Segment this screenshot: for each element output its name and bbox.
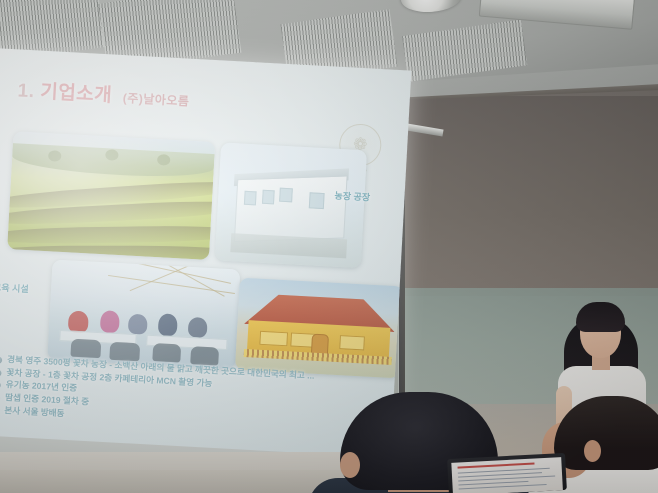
photo-label-education: 교육 시설 bbox=[0, 280, 29, 295]
seated-person bbox=[100, 310, 120, 333]
bullet-dot-icon bbox=[0, 382, 1, 389]
laptop-screen-heading-line bbox=[458, 463, 535, 469]
ceiling-vent bbox=[402, 20, 527, 82]
chair-shape bbox=[109, 342, 140, 362]
presentation-photo-scene: 1. 기업소개 (주)날아오름 ❁ FLY UP bbox=[0, 0, 658, 493]
window-shape bbox=[340, 336, 366, 351]
seated-person bbox=[128, 314, 148, 335]
window-shape bbox=[259, 330, 288, 346]
presenter-hair-top bbox=[576, 302, 625, 332]
window-shape bbox=[279, 188, 292, 202]
audience-hair bbox=[554, 396, 658, 470]
wall-upper-panel bbox=[402, 96, 658, 296]
slide-photo-factory-building bbox=[215, 142, 367, 268]
ceiling-downlight-icon bbox=[400, 0, 462, 14]
window-shape bbox=[308, 192, 324, 209]
slide-photo-yellow-house bbox=[235, 278, 404, 379]
slide-title: 1. 기업소개 (주)날아오름 bbox=[17, 75, 190, 111]
slide-photo-greenhouse-education bbox=[47, 259, 240, 369]
audience-ear bbox=[584, 440, 601, 462]
laptop[interactable] bbox=[447, 453, 567, 493]
field-ridge bbox=[7, 245, 215, 260]
photo-label-farm-factory: 농장 공장 bbox=[334, 189, 370, 204]
slide-title-sub: (주)날아오름 bbox=[122, 91, 189, 109]
bullet-dot-icon bbox=[0, 357, 2, 364]
slide-title-main: 기업소개 bbox=[40, 82, 113, 107]
audience-ear bbox=[340, 452, 360, 478]
bullet-dot-icon bbox=[0, 369, 2, 376]
window-shape bbox=[262, 190, 275, 204]
chair-shape bbox=[70, 339, 101, 359]
building-body bbox=[233, 175, 347, 242]
chair-shape bbox=[153, 343, 182, 362]
seated-person bbox=[158, 313, 178, 336]
slide-title-number: 1. bbox=[17, 80, 35, 102]
hill-shape bbox=[11, 143, 214, 180]
bullet-text: 본사 서울 방배동 bbox=[4, 406, 65, 419]
field-ridge bbox=[7, 224, 215, 244]
seated-person bbox=[188, 317, 208, 338]
laptop-screen[interactable] bbox=[451, 457, 563, 493]
slide-photo-chrysanthemum-field bbox=[7, 131, 215, 260]
chair-shape bbox=[190, 346, 219, 365]
window-shape bbox=[244, 191, 257, 205]
